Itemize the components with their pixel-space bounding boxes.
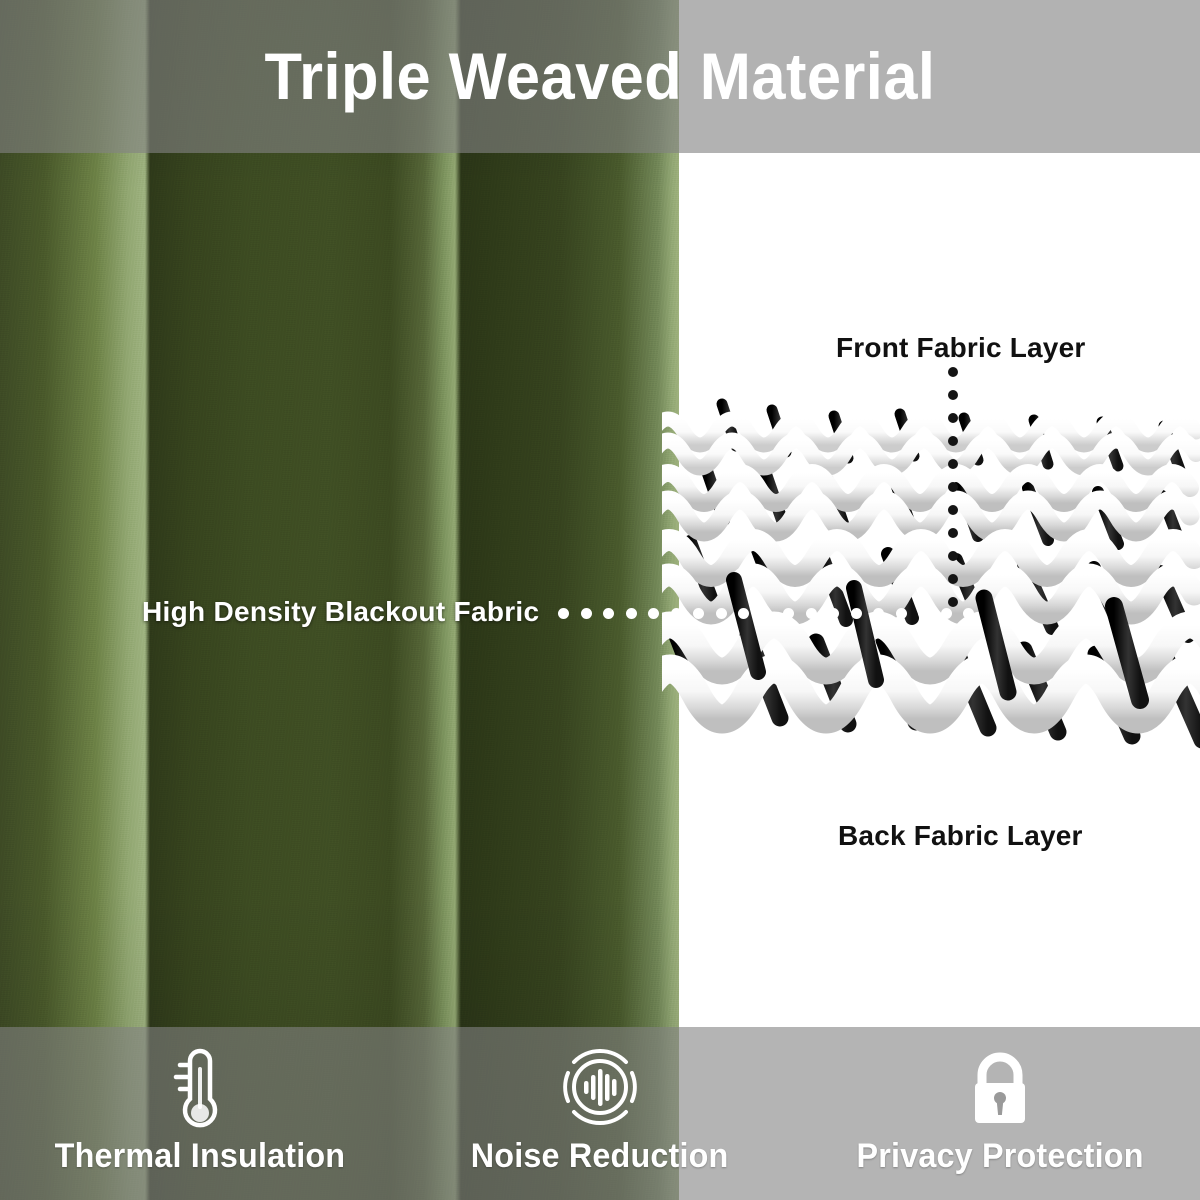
leader-dot	[948, 413, 958, 423]
leader-dot	[693, 608, 704, 619]
leader-dot	[948, 390, 958, 400]
leader-dot	[851, 608, 862, 619]
leader-dot	[896, 608, 907, 619]
front-layer-leader-line	[948, 367, 960, 617]
feature-label: Noise Reduction	[471, 1137, 729, 1176]
leader-dot	[738, 608, 749, 619]
leader-dot	[873, 608, 884, 619]
leader-dot	[783, 608, 794, 619]
leader-dot	[603, 608, 614, 619]
callout-blackout-fabric: High Density Blackout Fabric	[142, 596, 539, 628]
callout-back-fabric-layer: Back Fabric Layer	[838, 820, 1083, 852]
feature-list: Thermal Insulation	[0, 1027, 1200, 1200]
feature-privacy-protection: Privacy Protection	[800, 1027, 1200, 1200]
sound-wave-icon	[558, 1041, 642, 1133]
leader-dot	[761, 608, 772, 619]
leader-dot	[948, 505, 958, 515]
leader-dot	[963, 608, 974, 619]
feature-label: Privacy Protection	[856, 1137, 1143, 1176]
infographic-canvas: Triple Weaved Material Front Fabric Laye…	[0, 0, 1200, 1200]
thermometer-icon	[158, 1041, 242, 1133]
leader-dot	[948, 459, 958, 469]
feature-label: Thermal Insulation	[55, 1137, 346, 1176]
leader-dot	[806, 608, 817, 619]
leader-dot	[558, 608, 569, 619]
feature-thermal-insulation: Thermal Insulation	[0, 1027, 400, 1200]
leader-dot	[716, 608, 727, 619]
page-title: Triple Weaved Material	[42, 40, 1158, 112]
callout-front-fabric-layer: Front Fabric Layer	[836, 332, 1085, 364]
leader-dot	[948, 597, 958, 607]
leader-dot	[948, 551, 958, 561]
blackout-layer-leader-line	[558, 608, 978, 620]
leader-dot	[948, 528, 958, 538]
leader-dot	[948, 436, 958, 446]
leader-dot	[626, 608, 637, 619]
weave-row-group	[662, 404, 1200, 740]
leader-dot	[581, 608, 592, 619]
leader-dot	[948, 482, 958, 492]
leader-dot	[918, 608, 929, 619]
leader-dot	[671, 608, 682, 619]
leader-dot	[948, 574, 958, 584]
leader-dot	[941, 608, 952, 619]
leader-dot	[828, 608, 839, 619]
feature-noise-reduction: Noise Reduction	[400, 1027, 800, 1200]
woven-fabric-illustration	[662, 392, 1200, 752]
leader-dot	[648, 608, 659, 619]
padlock-icon	[958, 1041, 1042, 1133]
leader-dot	[948, 367, 958, 377]
